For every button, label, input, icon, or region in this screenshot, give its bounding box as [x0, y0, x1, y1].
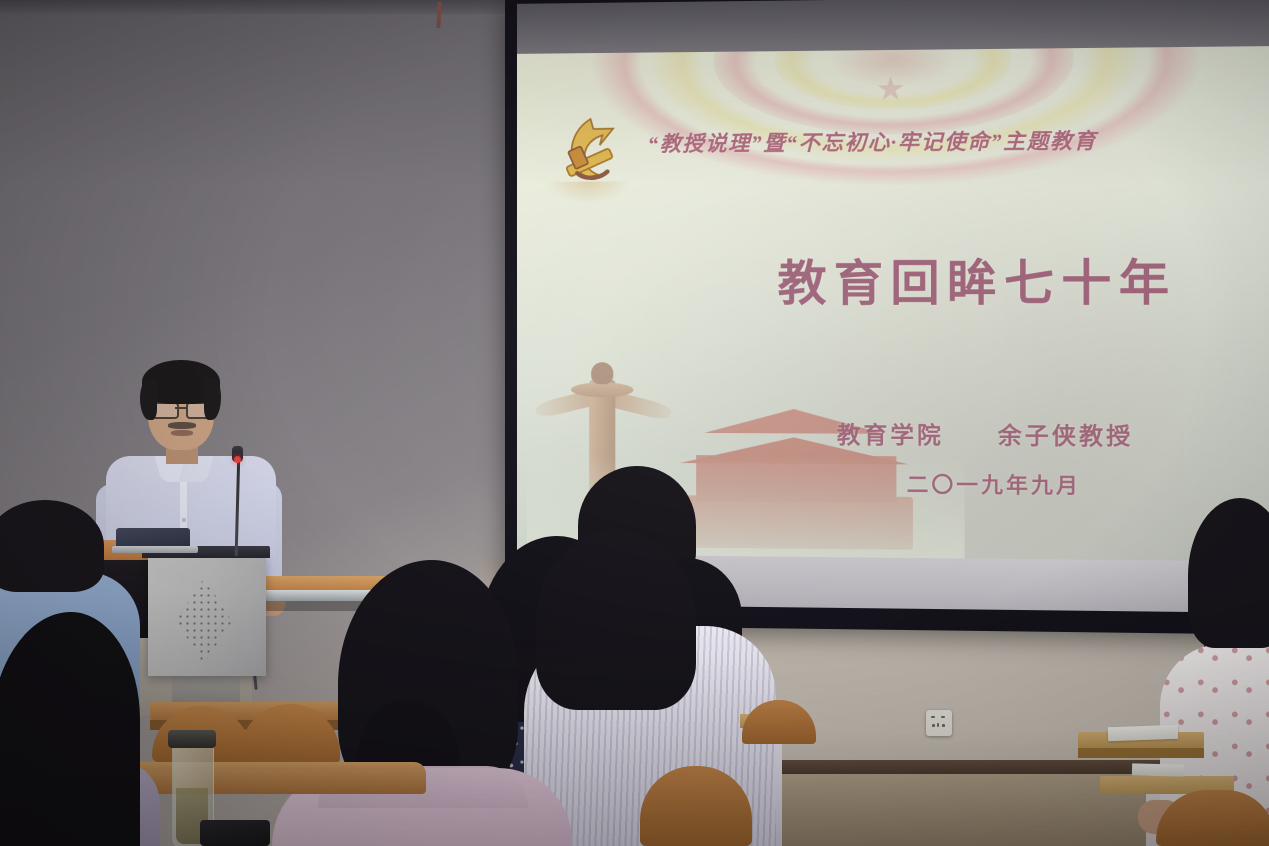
slide-presenter-line: 教育学院 余子侠教授 — [837, 415, 1134, 451]
presenter-hair-right — [204, 378, 221, 420]
slide-date-line: 二〇一九年九月 — [907, 468, 1081, 500]
hammer-and-sickle-emblem-icon — [545, 105, 631, 192]
star-glyph: ★ — [876, 72, 906, 105]
screen-top-dark-band — [517, 0, 1269, 54]
microphone-status-led — [234, 456, 241, 463]
smartphone-on-desk — [200, 820, 270, 846]
radial-sunburst-graphic — [577, 46, 1215, 194]
wall-power-outlet-icon — [926, 710, 952, 736]
attendee-left-lavender-head — [0, 612, 140, 846]
bottle-cap — [168, 730, 216, 748]
presenter-mouth — [171, 430, 193, 436]
podium-speaker-grille-icon — [170, 578, 238, 664]
lecture-hall-photograph: ★ “教授说理”暨“不忘初心·牢记使命”主题教育 — [0, 0, 1269, 846]
slide-main-title: 教育回眸七十年 — [778, 242, 1177, 314]
papers-on-lower-desk — [1132, 763, 1184, 776]
ceiling-edge — [0, 0, 520, 14]
presenter-mustache — [168, 422, 196, 429]
laptop-front-lip — [112, 546, 198, 553]
huabiao-disc — [571, 382, 633, 397]
huabiao-crown — [591, 362, 613, 384]
eyeglasses-bridge — [175, 407, 186, 409]
emblem-reflection — [545, 181, 631, 203]
slide-header-text: “教授说理”暨“不忘初心·牢记使命”主题教育 — [648, 125, 1097, 158]
papers-on-desk — [1108, 725, 1178, 741]
attendee-white-striped-head — [536, 530, 696, 710]
right-desk-edge — [1078, 748, 1204, 758]
presenter-hair-left — [140, 380, 157, 420]
